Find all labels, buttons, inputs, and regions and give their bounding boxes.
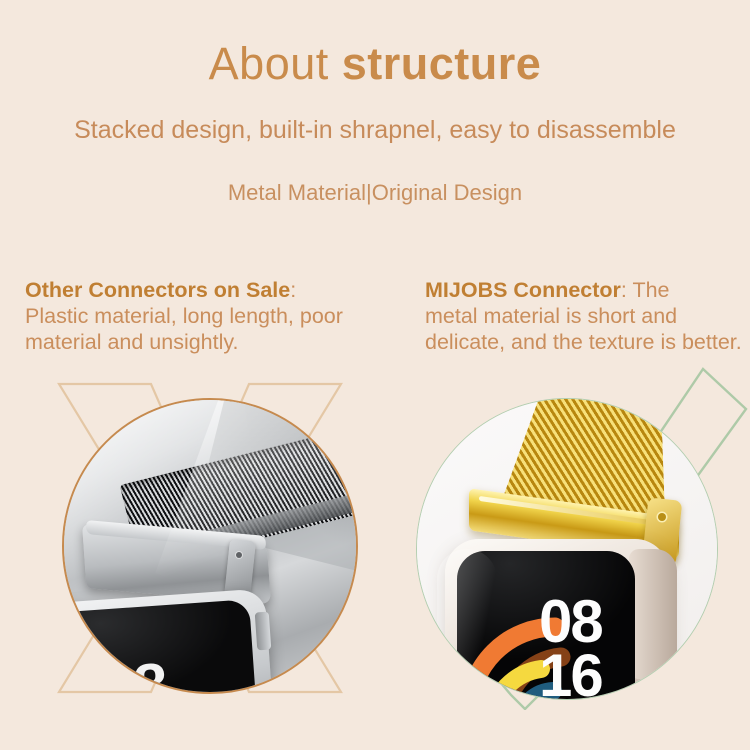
silver-watch-time: 08 [98,650,170,694]
right-body: metal material is short and delicate, an… [425,303,750,355]
right-description: MIJOBS Connector: The metal material is … [425,277,750,355]
subtitle-secondary: Metal Material|Original Design [0,180,750,206]
page-title: About structure [0,38,750,90]
left-heading-suffix: : [290,278,296,302]
gold-connector-photo: 08 16 [417,399,717,699]
subtitle-primary: Stacked design, built-in shrapnel, easy … [0,116,750,145]
silver-watch-side-button [255,612,272,651]
left-description: Other Connectors on Sale: Plastic materi… [25,277,395,355]
left-body: Plastic material, long length, poor mate… [25,303,395,355]
left-product-photo: 08 [62,398,358,694]
promo-page: About structure Stacked design, built-in… [0,0,750,750]
gold-watch-time: 08 16 [539,595,602,700]
left-heading-line: Other Connectors on Sale: [25,277,395,303]
silver-connector-photo: 08 [64,400,356,692]
photo-glare [437,549,497,700]
gold-watch-minutes: 16 [539,649,602,700]
right-product-photo: 08 16 [416,398,718,700]
gold-connector-screw [658,513,666,521]
page-title-bold: structure [342,38,542,89]
page-title-light: About [209,38,342,89]
right-heading-line: MIJOBS Connector: The [425,277,750,303]
right-heading: MIJOBS Connector [425,278,621,302]
right-heading-suffix: : The [621,278,670,302]
gold-watch-side [629,549,677,679]
left-heading: Other Connectors on Sale [25,278,290,302]
gold-watch-hours: 08 [539,595,602,649]
